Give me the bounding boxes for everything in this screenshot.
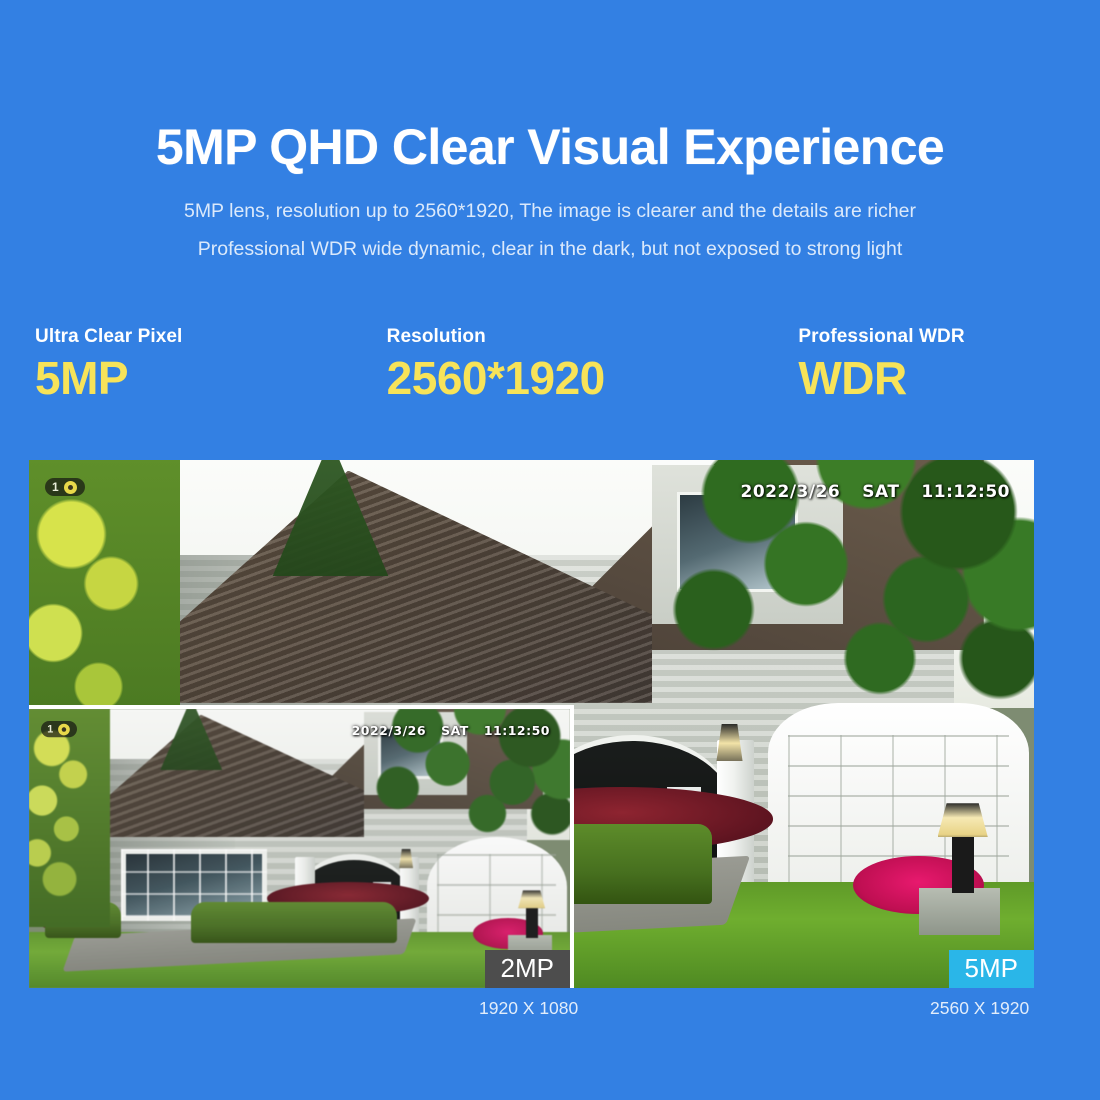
spec-label-resolution: Resolution	[387, 326, 689, 348]
spec-label-wdr: Professional WDR	[798, 326, 1100, 348]
quality-tag-5mp: 5MP	[949, 950, 1034, 988]
spec-value-wdr: WDR	[798, 350, 1100, 406]
osd-date-inset: 2022/3/26	[352, 723, 427, 738]
scene-2mp-photo	[29, 709, 570, 988]
page-subtitle: 5MP lens, resolution up to 2560*1920, Th…	[0, 176, 1100, 268]
camera-eye-icon	[64, 481, 77, 494]
osd-time-inset: 11:12:50	[484, 723, 550, 738]
page-title: 5MP QHD Clear Visual Experience	[0, 0, 1100, 176]
tree-canopy-right	[612, 460, 1034, 756]
page-header: 5MP QHD Clear Visual Experience 5MP lens…	[0, 0, 1100, 268]
subtitle-line-2: Professional WDR wide dynamic, clear in …	[0, 230, 1100, 268]
quality-tag-2mp: 2MP	[485, 950, 570, 988]
scene-2mp-inset: 1 2022/3/26SAT11:12:50 2MP	[29, 705, 574, 988]
caption-2mp: 1920 X 1080	[479, 998, 578, 1019]
yellow-tree-left-inset	[29, 709, 110, 927]
spec-value-pixel: 5MP	[35, 350, 337, 406]
spec-item-pixel: Ultra Clear Pixel 5MP	[0, 326, 337, 406]
channel-badge-main: 1	[45, 478, 85, 496]
camera-eye-icon-inset	[58, 723, 70, 735]
lamp-post	[952, 830, 974, 893]
osd-time-main: 11:12:50	[921, 482, 1010, 502]
osd-weekday-main: SAT	[862, 482, 899, 502]
spec-label-pixel: Ultra Clear Pixel	[35, 326, 337, 348]
camera-comparison-viewport: 1 2022/3/26SAT11:12:50 5MP	[29, 460, 1034, 988]
spec-item-resolution: Resolution 2560*1920	[337, 326, 689, 406]
spec-value-resolution: 2560*1920	[387, 350, 689, 406]
osd-date-main: 2022/3/26	[741, 482, 841, 502]
osd-timestamp-main: 2022/3/26SAT11:12:50	[741, 482, 1010, 502]
hedge-row-inset	[191, 902, 397, 944]
spec-highlights: Ultra Clear Pixel 5MP Resolution 2560*19…	[0, 326, 1100, 406]
channel-number-main: 1	[52, 480, 59, 494]
osd-timestamp-inset: 2022/3/26SAT11:12:50	[352, 723, 550, 738]
channel-number-inset: 1	[47, 723, 53, 736]
osd-weekday-inset: SAT	[441, 723, 469, 738]
caption-5mp: 2560 X 1920	[930, 998, 1029, 1019]
lamp-pier	[919, 888, 999, 936]
lamp-post-inset	[526, 904, 538, 937]
subtitle-line-1: 5MP lens, resolution up to 2560*1920, Th…	[0, 192, 1100, 230]
spec-item-wdr: Professional WDR WDR	[688, 326, 1100, 406]
channel-badge-inset: 1	[41, 721, 77, 737]
